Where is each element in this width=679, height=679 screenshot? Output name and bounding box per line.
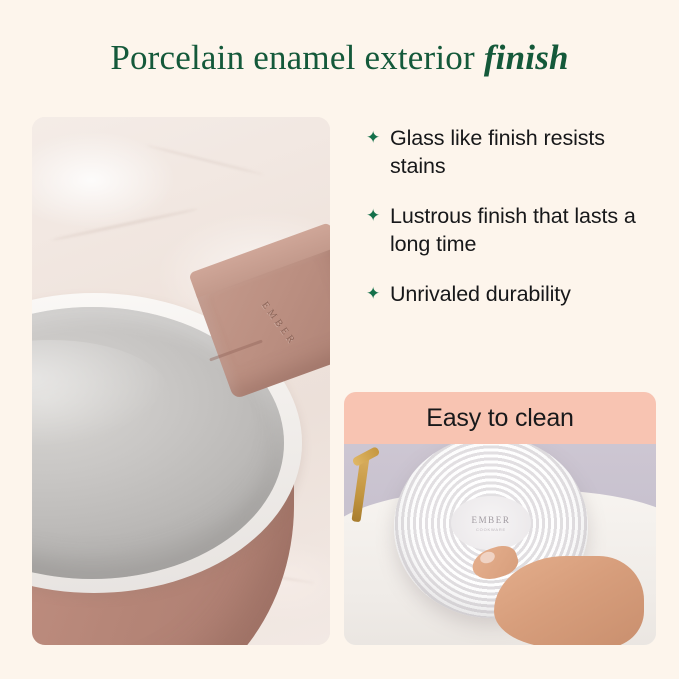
list-item: ✦ Unrivaled durability <box>366 280 666 308</box>
list-item: ✦ Glass like finish resists stains <box>366 124 666 180</box>
feature-text: Lustrous finish that lasts a long time <box>390 202 666 258</box>
star-bullet-icon: ✦ <box>366 202 390 229</box>
page-title-lead: Porcelain enamel exterior <box>110 38 484 77</box>
list-item: ✦ Lustrous finish that lasts a long time <box>366 202 666 258</box>
easy-to-clean-title: Easy to clean <box>426 404 574 433</box>
star-bullet-icon: ✦ <box>366 124 390 151</box>
star-bullet-icon: ✦ <box>366 280 390 307</box>
feature-text: Glass like finish resists stains <box>390 124 666 180</box>
page-title-accent: finish <box>484 38 569 77</box>
feature-text: Unrivaled durability <box>390 280 571 308</box>
pan-interior-sheen <box>32 340 169 449</box>
pan-brand-label: EMBER <box>471 515 510 525</box>
pan-brand-sublabel: COOKWARE <box>476 527 506 532</box>
pan-base-brand-medallion: EMBER COOKWARE <box>451 496 531 550</box>
page-title: Porcelain enamel exterior finish <box>0 36 679 80</box>
handle-brand-emboss: EMBER <box>259 300 298 348</box>
easy-to-clean-panel: Easy to clean EMBER COOKWARE <box>344 392 656 645</box>
washing-photo: EMBER COOKWARE <box>344 444 656 645</box>
feature-list: ✦ Glass like finish resists stains ✦ Lus… <box>366 124 666 330</box>
hero-product-photo: EMBER <box>32 117 330 645</box>
easy-to-clean-banner: Easy to clean <box>344 392 656 444</box>
